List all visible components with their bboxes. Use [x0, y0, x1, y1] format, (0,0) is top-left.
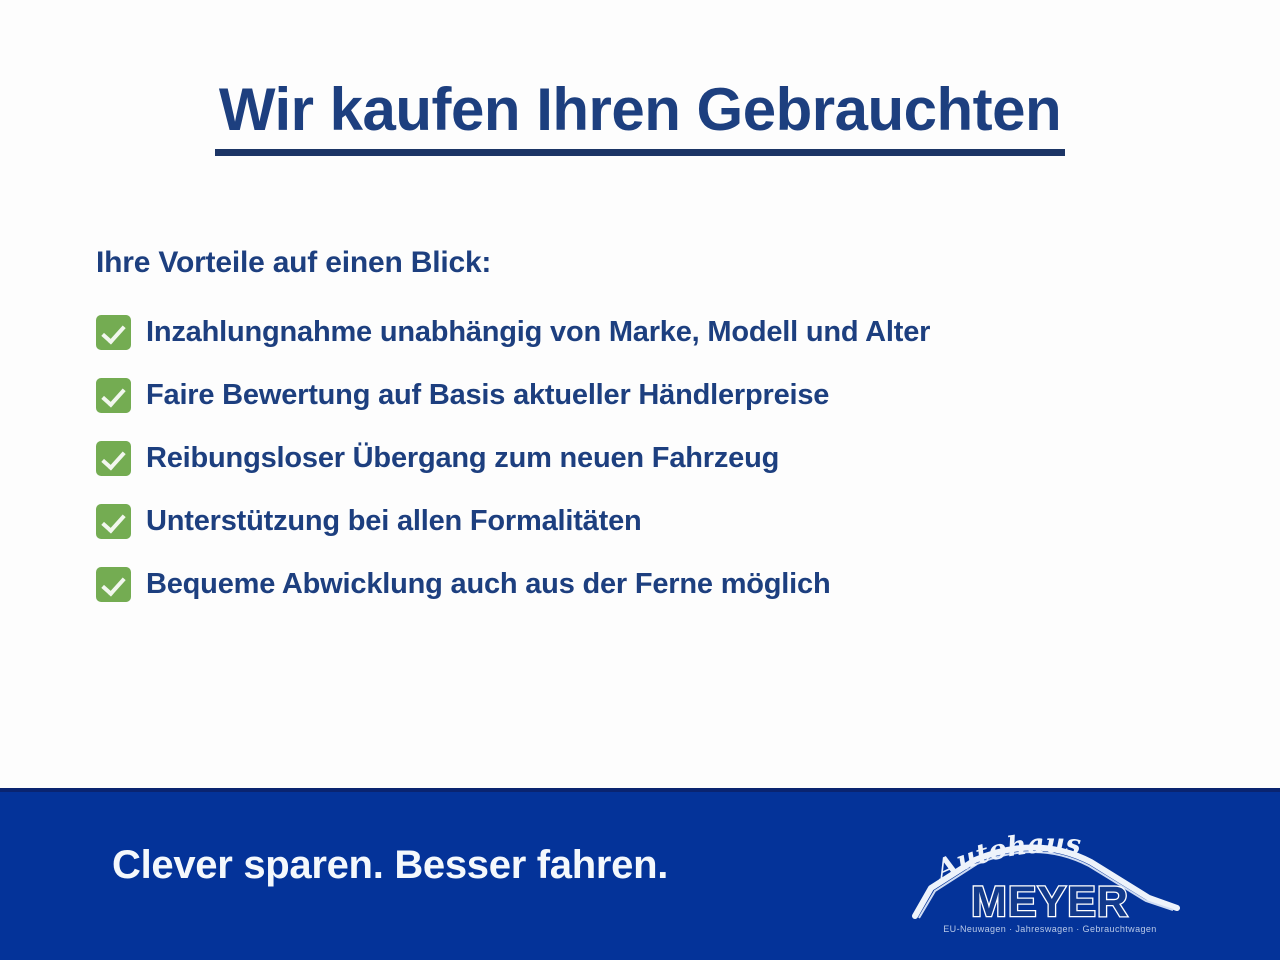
check-box-icon	[96, 315, 131, 350]
page-title: Wir kaufen Ihren Gebrauchten	[0, 78, 1280, 156]
banner-top-divider	[0, 788, 1280, 792]
benefits-heading: Ihre Vorteile auf einen Blick:	[96, 246, 491, 280]
check-box-icon	[96, 567, 131, 602]
page-title-text: Wir kaufen Ihren Gebrauchten	[215, 78, 1065, 156]
list-item: Bequeme Abwicklung auch aus der Ferne mö…	[96, 562, 1236, 606]
list-item-label: Bequeme Abwicklung auch aus der Ferne mö…	[146, 570, 830, 599]
check-box-icon	[96, 504, 131, 539]
benefits-list: Inzahlungnahme unabhängig von Marke, Mod…	[96, 310, 1236, 625]
advertisement-page: Wir kaufen Ihren Gebrauchten Ihre Vortei…	[0, 0, 1280, 960]
list-item: Unterstützung bei allen Formalitäten	[96, 499, 1236, 543]
logo-subline: EU-Neuwagen · Jahreswagen · Gebrauchtwag…	[943, 924, 1156, 934]
list-item: Reibungsloser Übergang zum neuen Fahrzeu…	[96, 436, 1236, 480]
list-item-label: Inzahlungnahme unabhängig von Marke, Mod…	[146, 318, 930, 347]
dealer-logo: Autohaus MEYER EU-Neuwagen · Jahreswagen…	[905, 812, 1195, 940]
list-item: Inzahlungnahme unabhängig von Marke, Mod…	[96, 310, 1236, 354]
logo-wordmark: MEYER	[971, 878, 1129, 926]
check-box-icon	[96, 441, 131, 476]
list-item: Faire Bewertung auf Basis aktueller Händ…	[96, 373, 1236, 417]
list-item-label: Reibungsloser Übergang zum neuen Fahrzeu…	[146, 444, 779, 473]
list-item-label: Unterstützung bei allen Formalitäten	[146, 507, 642, 536]
check-box-icon	[96, 378, 131, 413]
list-item-label: Faire Bewertung auf Basis aktueller Händ…	[146, 381, 829, 410]
banner-tagline: Clever sparen. Besser fahren.	[112, 843, 668, 888]
